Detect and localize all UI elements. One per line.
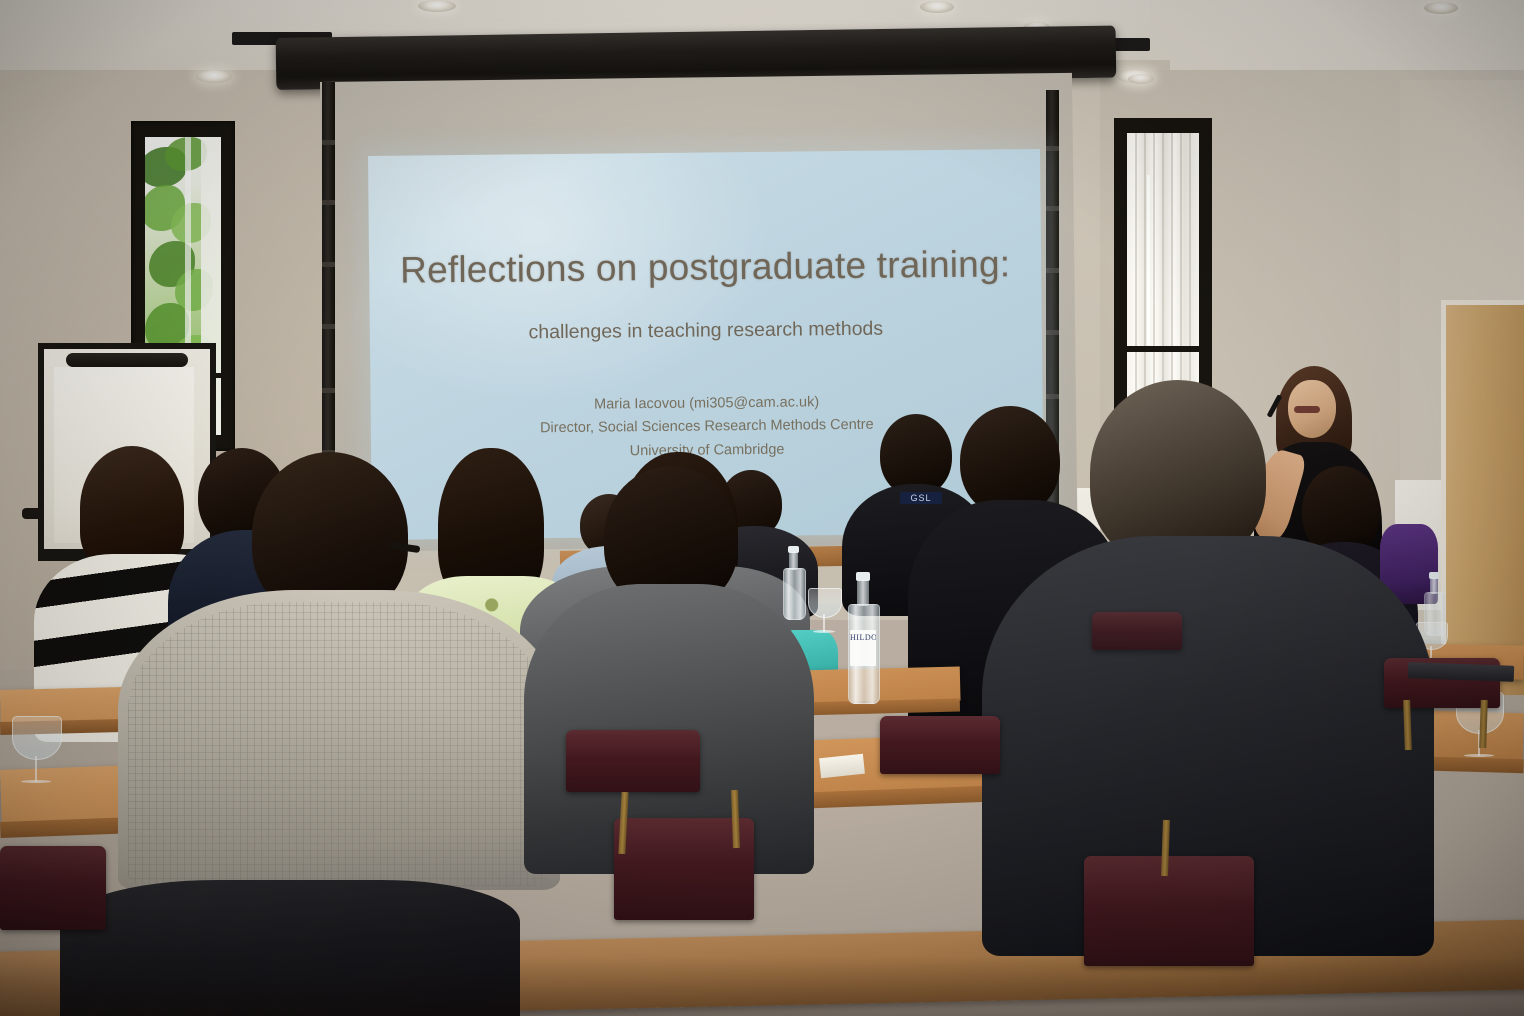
chair-right-mid[interactable] bbox=[1092, 612, 1182, 650]
chair-center-right[interactable] bbox=[1084, 856, 1254, 966]
window-right-mullion bbox=[1127, 346, 1199, 352]
ceiling-downlight bbox=[196, 70, 232, 83]
hair bbox=[80, 446, 184, 570]
bottle-label: HILDON bbox=[850, 630, 876, 666]
torso bbox=[60, 880, 520, 1016]
slide-title: Reflections on postgraduate training: bbox=[369, 243, 1041, 292]
chair-row-back-center[interactable] bbox=[880, 716, 1000, 774]
ceiling-downlight bbox=[418, 0, 456, 12]
slide-subtitle: challenges in teaching research methods bbox=[370, 316, 1042, 346]
flipchart-clamp bbox=[66, 353, 188, 367]
chair-left-front[interactable] bbox=[0, 846, 106, 930]
ceiling-downlight bbox=[1424, 2, 1458, 14]
shirt-check-pattern bbox=[128, 602, 548, 886]
door[interactable] bbox=[1441, 300, 1524, 695]
flipchart-knob bbox=[22, 508, 44, 519]
ceiling-downlight bbox=[920, 1, 954, 13]
ceiling-downlight bbox=[1128, 74, 1154, 84]
lecture-room-photo: Reflections on postgraduate training: ch… bbox=[0, 0, 1524, 1016]
chair-row-back-left[interactable] bbox=[566, 730, 700, 792]
collar-tag: GSL bbox=[900, 492, 942, 504]
